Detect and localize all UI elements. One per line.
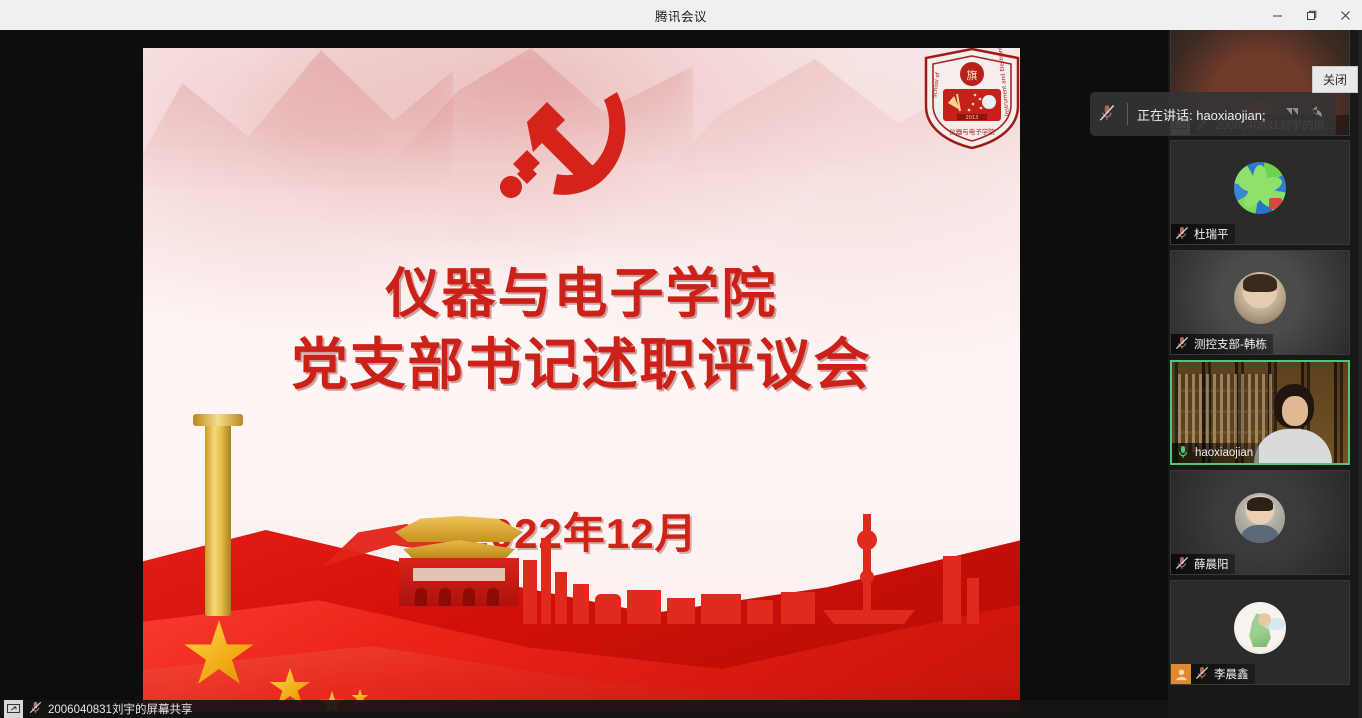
minimize-icon bbox=[1272, 10, 1283, 21]
participant-namebar: haoxiaojian bbox=[1172, 443, 1259, 463]
participant-tile[interactable]: 李晨鑫 bbox=[1170, 580, 1350, 685]
participant-avatar bbox=[1234, 162, 1286, 214]
double-chevron-icon[interactable] bbox=[1284, 104, 1304, 124]
tiananmen-gate-illustration bbox=[389, 516, 529, 606]
participant-tile-active-speaker[interactable]: haoxiaojian bbox=[1170, 360, 1350, 465]
participant-name: 杜瑞平 bbox=[1194, 226, 1229, 242]
shared-screen-content: 旗 2013 仪器与电子学院 School of bbox=[143, 48, 1020, 712]
active-speaker-label: 正在讲话: haoxiaojian; bbox=[1137, 105, 1280, 124]
participant-avatar bbox=[1234, 602, 1286, 654]
school-crest-logo: 旗 2013 仪器与电子学院 School of bbox=[923, 48, 1020, 149]
microphone-muted-icon bbox=[1174, 335, 1192, 353]
participant-tile[interactable]: 杜瑞平 bbox=[1170, 140, 1350, 245]
microphone-muted-icon bbox=[1098, 103, 1118, 125]
participant-namebar: 杜瑞平 bbox=[1171, 224, 1235, 244]
participant-name: 测控支部-韩栋 bbox=[1194, 336, 1267, 352]
city-skyline-silhouette bbox=[523, 504, 1020, 624]
presentation-slide: 旗 2013 仪器与电子学院 School of bbox=[143, 48, 1020, 712]
title-bar: 腾讯会议 bbox=[0, 0, 1362, 30]
share-status-bar: 2006040831刘宇的屏幕共享 bbox=[0, 700, 1168, 718]
close-button[interactable] bbox=[1328, 0, 1362, 30]
screen-share-icon bbox=[4, 700, 23, 718]
gold-pillar-cap bbox=[193, 414, 243, 426]
close-icon bbox=[1340, 10, 1351, 21]
mountain-wash-left bbox=[143, 48, 453, 188]
toast-divider bbox=[1127, 103, 1128, 125]
svg-text:2013: 2013 bbox=[966, 115, 979, 121]
gold-pillar-decoration bbox=[205, 416, 231, 616]
participant-tile[interactable]: 薛晨阳 bbox=[1170, 470, 1350, 575]
maximize-icon bbox=[1306, 10, 1317, 21]
microphone-muted-icon bbox=[1174, 225, 1192, 243]
microphone-muted-icon bbox=[28, 700, 46, 718]
rail-scrollbar[interactable] bbox=[1358, 30, 1362, 718]
share-status-label: 2006040831刘宇的屏幕共享 bbox=[48, 701, 192, 717]
svg-text:旗: 旗 bbox=[967, 68, 978, 82]
window-title: 腾讯会议 bbox=[655, 6, 707, 25]
microphone-active-icon bbox=[1175, 444, 1193, 462]
tencent-meeting-window: 腾讯会议 bbox=[0, 0, 1362, 718]
microphone-muted-icon bbox=[1174, 555, 1192, 573]
slide-title-block: 仪器与电子学院 党支部书记述职评议会 bbox=[143, 260, 1020, 401]
undo-arrow-icon[interactable] bbox=[1308, 104, 1328, 124]
svg-text:仪器与电子学院: 仪器与电子学院 bbox=[949, 127, 995, 136]
active-speaker-toast[interactable]: 正在讲话: haoxiaojian; bbox=[1090, 92, 1336, 136]
slide-title-line-1: 仪器与电子学院 bbox=[143, 260, 1020, 329]
participant-tile[interactable]: 测控支部-韩栋 bbox=[1170, 250, 1350, 355]
host-avatar-icon bbox=[1171, 664, 1191, 684]
participant-namebar: 李晨鑫 bbox=[1171, 664, 1255, 684]
close-tooltip[interactable]: 关闭 bbox=[1312, 66, 1358, 93]
participant-namebar: 薛晨阳 bbox=[1171, 554, 1235, 574]
slide-title-line-2: 党支部书记述职评议会 bbox=[143, 329, 1020, 401]
participant-namebar: 测控支部-韩栋 bbox=[1171, 334, 1273, 354]
hammer-and-sickle-icon bbox=[489, 86, 639, 221]
participant-name: 薛晨阳 bbox=[1194, 556, 1229, 572]
shared-screen-stage[interactable]: 旗 2013 仪器与电子学院 School of bbox=[0, 30, 1168, 718]
window-controls bbox=[1260, 0, 1362, 30]
maximize-button[interactable] bbox=[1294, 0, 1328, 30]
minimize-button[interactable] bbox=[1260, 0, 1294, 30]
participant-name: haoxiaojian bbox=[1195, 447, 1253, 459]
microphone-muted-icon bbox=[1194, 665, 1212, 683]
meeting-body: 旗 2013 仪器与电子学院 School of bbox=[0, 30, 1362, 718]
participant-name: 李晨鑫 bbox=[1214, 666, 1249, 682]
